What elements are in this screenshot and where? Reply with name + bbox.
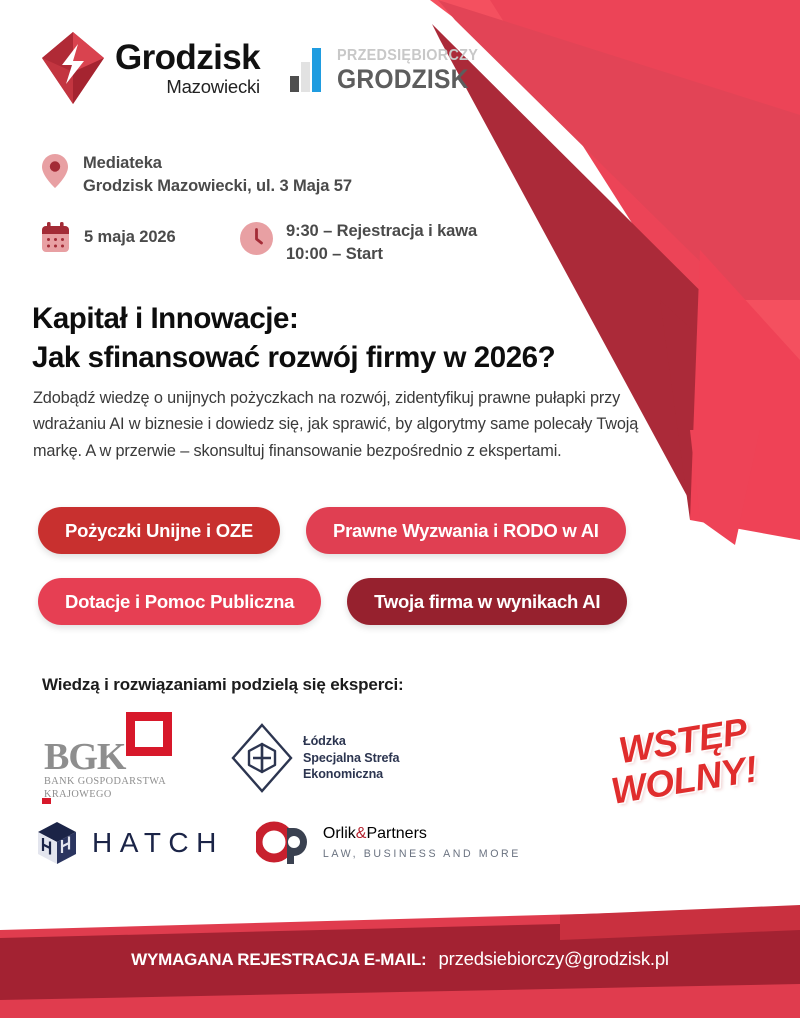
date-value: 5 maja 2026 <box>84 228 176 247</box>
orlik-tagline: LAW, BUSINESS AND MORE <box>323 849 521 860</box>
map-pin-icon <box>42 154 68 188</box>
page-title: Kapitał i Innowacje: Jak sfinansować roz… <box>32 300 712 378</box>
topic-pill-prawne-wyzwania-i-rodo-w-ai[interactable]: Prawne Wyzwania i RODO w AI <box>306 507 626 554</box>
free-entry-badge: WSTĘP WOLNY! <box>591 708 781 813</box>
venue-name: Mediateka <box>83 152 352 175</box>
bar-chart-icon <box>290 48 330 92</box>
svg-text:BANK GOSPODARSTWA: BANK GOSPODARSTWA <box>44 776 166 787</box>
lsse-wordmark: Łódzka Specjalna Strefa Ekonomiczna <box>303 733 399 783</box>
lsse-diamond-icon <box>231 723 293 793</box>
topic-pill-pozyczki-unijne-i-oze[interactable]: Pożyczki Unijne i OZE <box>38 507 280 554</box>
footer-band-accent-right <box>560 905 800 940</box>
venue-address: Grodzisk Mazowiecki, ul. 3 Maja 57 <box>83 175 352 198</box>
orlik-op-icon <box>256 820 312 866</box>
footer-band-light-bottom <box>0 984 800 1018</box>
grodzisk-subtitle: Mazowiecki <box>115 78 260 97</box>
time-line-2: 10:00 – Start <box>286 243 477 266</box>
calendar-icon <box>40 222 71 253</box>
partner-logos-row-1: BGK BANK GOSPODARSTWA KRAJOWEGO Łódzka S… <box>42 712 399 804</box>
title-line-1: Kapitał i Innowacje: <box>32 300 712 339</box>
svg-text:KRAJOWEGO: KRAJOWEGO <box>44 789 112 800</box>
footer-label: WYMAGANA REJESTRACJA E-MAIL: <box>131 950 426 970</box>
grodzisk-wordmark: Grodzisk Mazowiecki <box>115 40 260 97</box>
logo-orlik-partners: Orlik&Partners LAW, BUSINESS AND MORE <box>256 820 521 866</box>
grodzisk-title: Grodzisk <box>115 40 260 75</box>
partner-logos-row-2: HATCH Orlik&Partners LAW, BUSINESS AND M… <box>36 820 521 866</box>
logo-grodzisk-mazowiecki: Grodzisk Mazowiecki <box>42 32 260 104</box>
orlik-name: Orlik <box>323 825 356 842</box>
footer-email[interactable]: przedsiebiorczy@grodzisk.pl <box>439 948 669 970</box>
location-text: Mediateka Grodzisk Mazowiecki, ul. 3 Maj… <box>83 152 352 199</box>
title-line-2: Jak sfinansować rozwój firmy w 2026? <box>32 339 712 378</box>
logo-bgk: BGK BANK GOSPODARSTWA KRAJOWEGO <box>42 712 187 804</box>
poster-root: Grodzisk Mazowiecki PRZEDSIĘBIORCZY GROD… <box>0 0 800 1018</box>
event-datetime: 5 maja 2026 9:30 – Rejestracja i kawa 10… <box>40 222 477 267</box>
grodzisk-diamond-icon <box>42 32 104 104</box>
deco-shape-bright-taper <box>720 300 800 520</box>
lsse-line-1: Łódzka <box>303 733 399 750</box>
deco-shape-bright-point <box>690 250 800 540</box>
przedsiebiorczy-subtitle: GRODZISK <box>337 66 478 93</box>
hatch-cube-icon <box>36 821 78 865</box>
experts-heading: Wiedzą i rozwiązaniami podzielą się eksp… <box>42 675 404 695</box>
topic-pill-twoja-firma-w-wynikach-ai[interactable]: Twoja firma w wynikach AI <box>347 578 627 625</box>
event-location: Mediateka Grodzisk Mazowiecki, ul. 3 Maj… <box>42 152 352 199</box>
lsse-line-2: Specjalna Strefa <box>303 750 399 767</box>
hatch-wordmark: HATCH <box>92 827 224 859</box>
orlik-ampersand: & <box>356 825 367 842</box>
time-line-1: 9:30 – Rejestracja i kawa <box>286 220 477 243</box>
time-text: 9:30 – Rejestracja i kawa 10:00 – Start <box>286 220 477 267</box>
logo-hatch: HATCH <box>36 821 224 865</box>
bgk-logo-icon: BGK BANK GOSPODARSTWA KRAJOWEGO <box>42 712 187 804</box>
topic-pill-row-2: Dotacje i Pomoc Publiczna Twoja firma w … <box>38 578 748 625</box>
event-date: 5 maja 2026 <box>40 222 240 253</box>
lsse-line-3: Ekonomiczna <box>303 766 399 783</box>
logo-przedsiebiorczy-grodzisk: PRZEDSIĘBIORCZY GRODZISK <box>290 48 489 92</box>
header-logos: Grodzisk Mazowiecki PRZEDSIĘBIORCZY GROD… <box>42 32 489 104</box>
topic-pill-row-1: Pożyczki Unijne i OZE Prawne Wyzwania i … <box>38 507 748 554</box>
footer-registration: WYMAGANA REJESTRACJA E-MAIL: przedsiebio… <box>0 948 800 970</box>
przedsiebiorczy-wordmark: PRZEDSIĘBIORCZY GRODZISK <box>337 48 489 92</box>
topic-pill-group: Pożyczki Unijne i OZE Prawne Wyzwania i … <box>38 507 748 643</box>
event-time: 9:30 – Rejestracja i kawa 10:00 – Start <box>240 220 477 267</box>
svg-text:BGK: BGK <box>44 736 127 778</box>
przedsiebiorczy-title: PRZEDSIĘBIORCZY <box>337 48 478 64</box>
clock-icon <box>240 222 273 255</box>
orlik-wordmark: Orlik&Partners LAW, BUSINESS AND MORE <box>323 826 521 860</box>
orlik-partners: Partners <box>366 825 426 842</box>
orlik-main-line: Orlik&Partners <box>323 826 521 842</box>
logo-lodzka-strefa: Łódzka Specjalna Strefa Ekonomiczna <box>231 723 399 793</box>
event-description: Zdobądź wiedzę o unijnych pożyczkach na … <box>33 385 681 464</box>
topic-pill-dotacje-i-pomoc-publiczna[interactable]: Dotacje i Pomoc Publiczna <box>38 578 321 625</box>
